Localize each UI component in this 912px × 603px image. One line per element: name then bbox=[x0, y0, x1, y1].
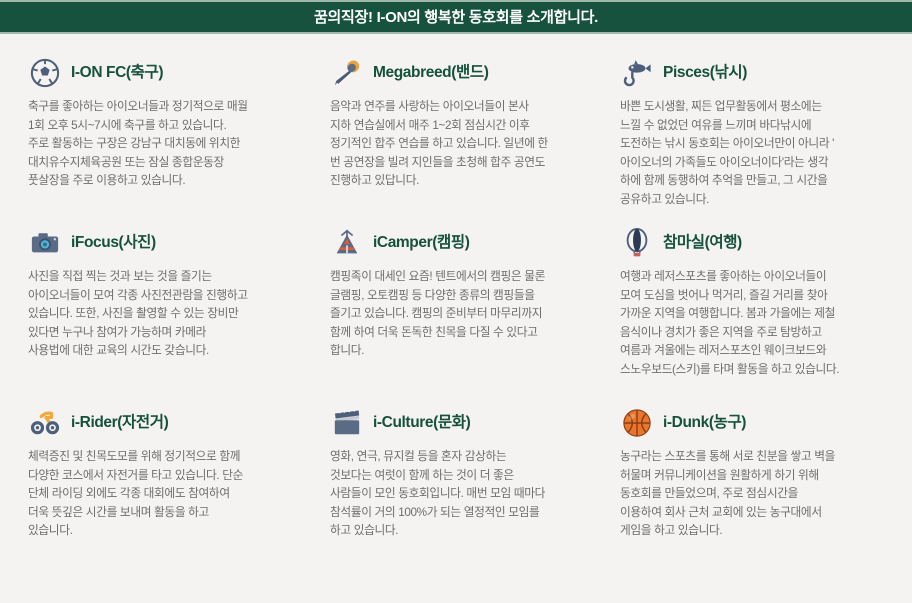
club-title: Megabreed(밴드) bbox=[373, 65, 488, 81]
club-card-iculture: i-Culture(문화) 영화, 연극, 뮤지컬 등을 혼자 감상하는 것보다… bbox=[330, 404, 620, 603]
club-title: 참마실(여행) bbox=[663, 235, 742, 251]
club-description: 체력증진 및 친목도모를 위해 정기적으로 함께 다양한 코스에서 자전거를 타… bbox=[28, 448, 320, 541]
soccer-ball-icon bbox=[28, 56, 62, 90]
club-description: 음악과 연주를 사랑하는 아이오너들이 본사 지하 연습실에서 매주 1~2회 … bbox=[330, 98, 610, 191]
club-card-idunk: i-Dunk(농구) 농구라는 스포츠를 통해 서로 친분을 쌓고 벽을 허물며… bbox=[620, 404, 912, 603]
club-card-chammasil: 참마실(여행) 여행과 레저스포츠를 좋아하는 아이오너들이 모여 도심을 벗어… bbox=[620, 224, 912, 404]
club-title: i-Rider(자전거) bbox=[71, 415, 168, 431]
club-title: iFocus(사진) bbox=[71, 235, 156, 251]
club-card-header: Pisces(낚시) bbox=[620, 54, 912, 92]
club-card-irider: i-Rider(자전거) 체력증진 및 친목도모를 위해 정기적으로 함께 다양… bbox=[28, 404, 330, 603]
club-card-header: Megabreed(밴드) bbox=[330, 54, 610, 92]
club-card-header: i-Rider(자전거) bbox=[28, 404, 320, 442]
hot-air-balloon-icon bbox=[620, 226, 654, 260]
bicycle-icon bbox=[28, 406, 62, 440]
club-card-ion-fc: I-ON FC(축구) 축구를 좋아하는 아이오너들과 정기적으로 매월 1회 … bbox=[28, 54, 330, 224]
tent-icon bbox=[330, 226, 364, 260]
page-header: 꿈의직장! I-ON의 행복한 동호회를 소개합니다. bbox=[0, 0, 912, 34]
club-card-header: I-ON FC(축구) bbox=[28, 54, 320, 92]
club-description: 농구라는 스포츠를 통해 서로 친분을 쌓고 벽을 허물며 커뮤니케이션을 원활… bbox=[620, 448, 912, 541]
club-card-header: i-Culture(문화) bbox=[330, 404, 610, 442]
club-description: 영화, 연극, 뮤지컬 등을 혼자 감상하는 것보다는 여럿이 함께 하는 것이… bbox=[330, 448, 610, 541]
club-description: 여행과 레저스포츠를 좋아하는 아이오너들이 모여 도심을 벗어나 먹거리, 즐… bbox=[620, 268, 912, 380]
club-card-icamper: iCamper(캠핑) 캠핑족이 대세인 요즘! 텐트에서의 캠핑은 물론 글램… bbox=[330, 224, 620, 404]
club-description: 사진을 직접 찍는 것과 보는 것을 즐기는 아이오너들이 모여 각종 사진전관… bbox=[28, 268, 320, 361]
microphone-icon bbox=[330, 56, 364, 90]
page-root: 꿈의직장! I-ON의 행복한 동호회를 소개합니다. I-ON FC(축구) … bbox=[0, 0, 912, 583]
club-title: I-ON FC(축구) bbox=[71, 65, 163, 81]
club-card-header: iCamper(캠핑) bbox=[330, 224, 610, 262]
club-card-megabreed: Megabreed(밴드) 음악과 연주를 사랑하는 아이오너들이 본사 지하 … bbox=[330, 54, 620, 224]
club-description: 캠핑족이 대세인 요즘! 텐트에서의 캠핑은 물론 글램핑, 오토캠핑 등 다양… bbox=[330, 268, 610, 361]
club-description: 축구를 좋아하는 아이오너들과 정기적으로 매월 1회 오후 5시~7시에 축구… bbox=[28, 98, 320, 191]
club-title: iCamper(캠핑) bbox=[373, 235, 469, 251]
club-card-header: 참마실(여행) bbox=[620, 224, 912, 262]
clapperboard-icon bbox=[330, 406, 364, 440]
club-grid: I-ON FC(축구) 축구를 좋아하는 아이오너들과 정기적으로 매월 1회 … bbox=[0, 34, 912, 583]
club-card-pisces: Pisces(낚시) 바쁜 도시생활, 찌든 업무활동에서 평소에는 느낄 수 … bbox=[620, 54, 912, 224]
fish-icon bbox=[620, 56, 654, 90]
club-card-header: iFocus(사진) bbox=[28, 224, 320, 262]
club-title: i-Dunk(농구) bbox=[663, 415, 746, 431]
club-card-header: i-Dunk(농구) bbox=[620, 404, 912, 442]
basketball-icon bbox=[620, 406, 654, 440]
camera-icon bbox=[28, 226, 62, 260]
club-card-ifocus: iFocus(사진) 사진을 직접 찍는 것과 보는 것을 즐기는 아이오너들이… bbox=[28, 224, 330, 404]
page-title: 꿈의직장! I-ON의 행복한 동호회를 소개합니다. bbox=[314, 10, 598, 25]
club-description: 바쁜 도시생활, 찌든 업무활동에서 평소에는 느낄 수 없었던 여유를 느끼며… bbox=[620, 98, 912, 210]
club-title: Pisces(낚시) bbox=[663, 65, 747, 81]
club-title: i-Culture(문화) bbox=[373, 415, 470, 431]
